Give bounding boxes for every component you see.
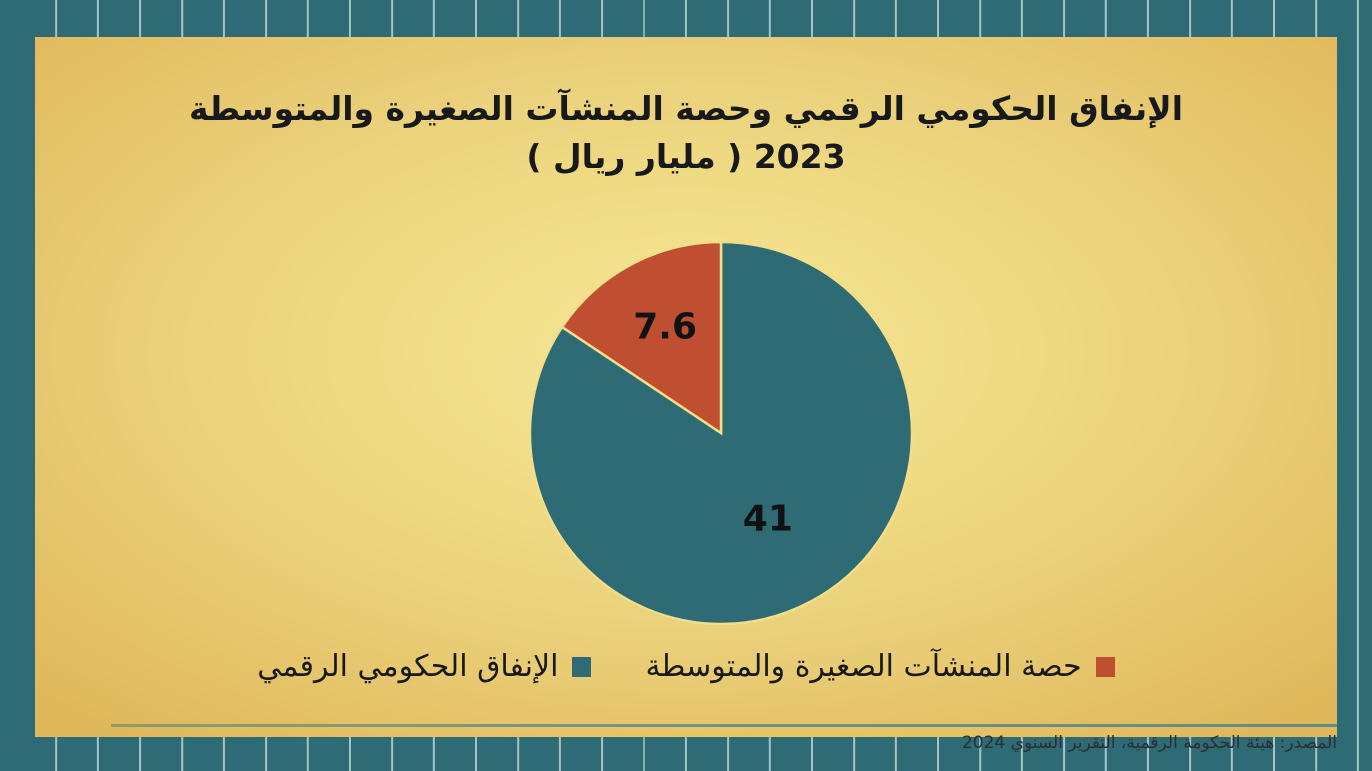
source-note: المصدر: هيئة الحكومة الرقمية، التقرير ال… bbox=[111, 733, 1337, 753]
legend-item-sme-share[interactable]: حصة المنشآت الصغيرة والمتوسطة bbox=[645, 649, 1114, 684]
pie-slice-label-sme-share: 7.6 bbox=[633, 307, 697, 348]
chart-title-line-1: الإنفاق الحكومي الرقمي وحصة المنشآت الصغ… bbox=[189, 89, 1183, 128]
pie-chart: 41 7.6 bbox=[490, 202, 952, 664]
footer-divider bbox=[111, 724, 1337, 727]
legend-swatch-teal-icon bbox=[572, 657, 591, 677]
pie-chart-svg: 41 7.6 bbox=[490, 202, 952, 664]
legend-label-sme-share: حصة المنشآت الصغيرة والمتوسطة bbox=[645, 649, 1081, 684]
legend-swatch-red-icon bbox=[1096, 657, 1115, 677]
chart-title: الإنفاق الحكومي الرقمي وحصة المنشآت الصغ… bbox=[95, 85, 1277, 181]
legend-label-gov-digital-spend: الإنفاق الحكومي الرقمي bbox=[257, 649, 558, 684]
legend-item-gov-digital-spend[interactable]: الإنفاق الحكومي الرقمي bbox=[257, 649, 591, 684]
chart-title-line-2: 2023 ( مليار ريال ) bbox=[95, 133, 1277, 181]
pie-slice-label-gov-digital-spend: 41 bbox=[743, 499, 793, 540]
pie-slices bbox=[530, 242, 912, 624]
slide-canvas: الإنفاق الحكومي الرقمي وحصة المنشآت الصغ… bbox=[0, 0, 1372, 771]
chart-card: الإنفاق الحكومي الرقمي وحصة المنشآت الصغ… bbox=[35, 37, 1337, 737]
chart-legend: حصة المنشآت الصغيرة والمتوسطة الإنفاق ال… bbox=[95, 649, 1277, 684]
